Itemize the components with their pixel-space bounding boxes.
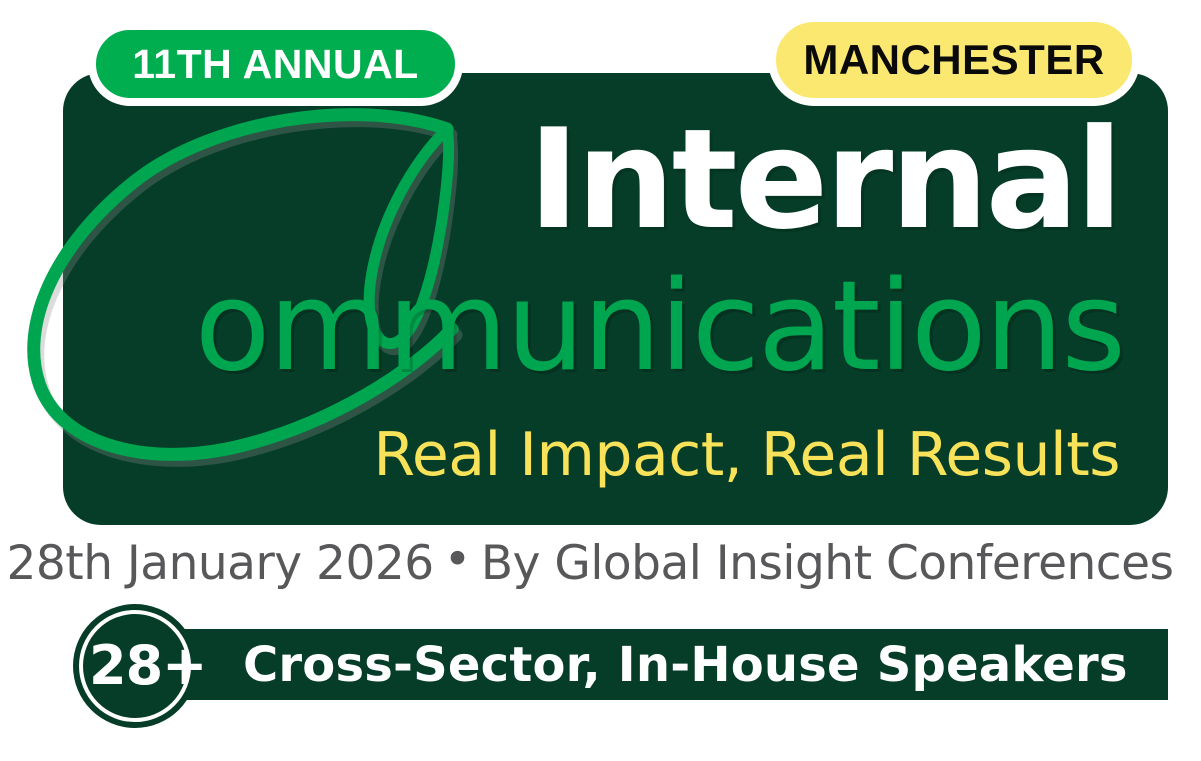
dateline: 28th January 2026•By Global Insight Conf… <box>0 536 1180 587</box>
badge-annual: 11TH ANNUAL <box>88 22 463 106</box>
badge-city-label: MANCHESTER <box>803 39 1104 81</box>
dateline-separator-icon: • <box>434 536 481 583</box>
hero-card <box>63 73 1168 525</box>
dateline-organiser: By Global Insight Conferences <box>481 536 1174 591</box>
badge-annual-label: 11TH ANNUAL <box>132 44 418 85</box>
badge-city: MANCHESTER <box>768 14 1140 106</box>
dateline-date: 28th January 2026 <box>6 536 433 591</box>
speaker-count-label: 28+ <box>73 604 233 728</box>
speakers-label: Cross-Sector, In-House Speakers <box>243 629 1128 700</box>
banner-root: Internal ommunications Real Impact, Real… <box>0 0 1201 761</box>
